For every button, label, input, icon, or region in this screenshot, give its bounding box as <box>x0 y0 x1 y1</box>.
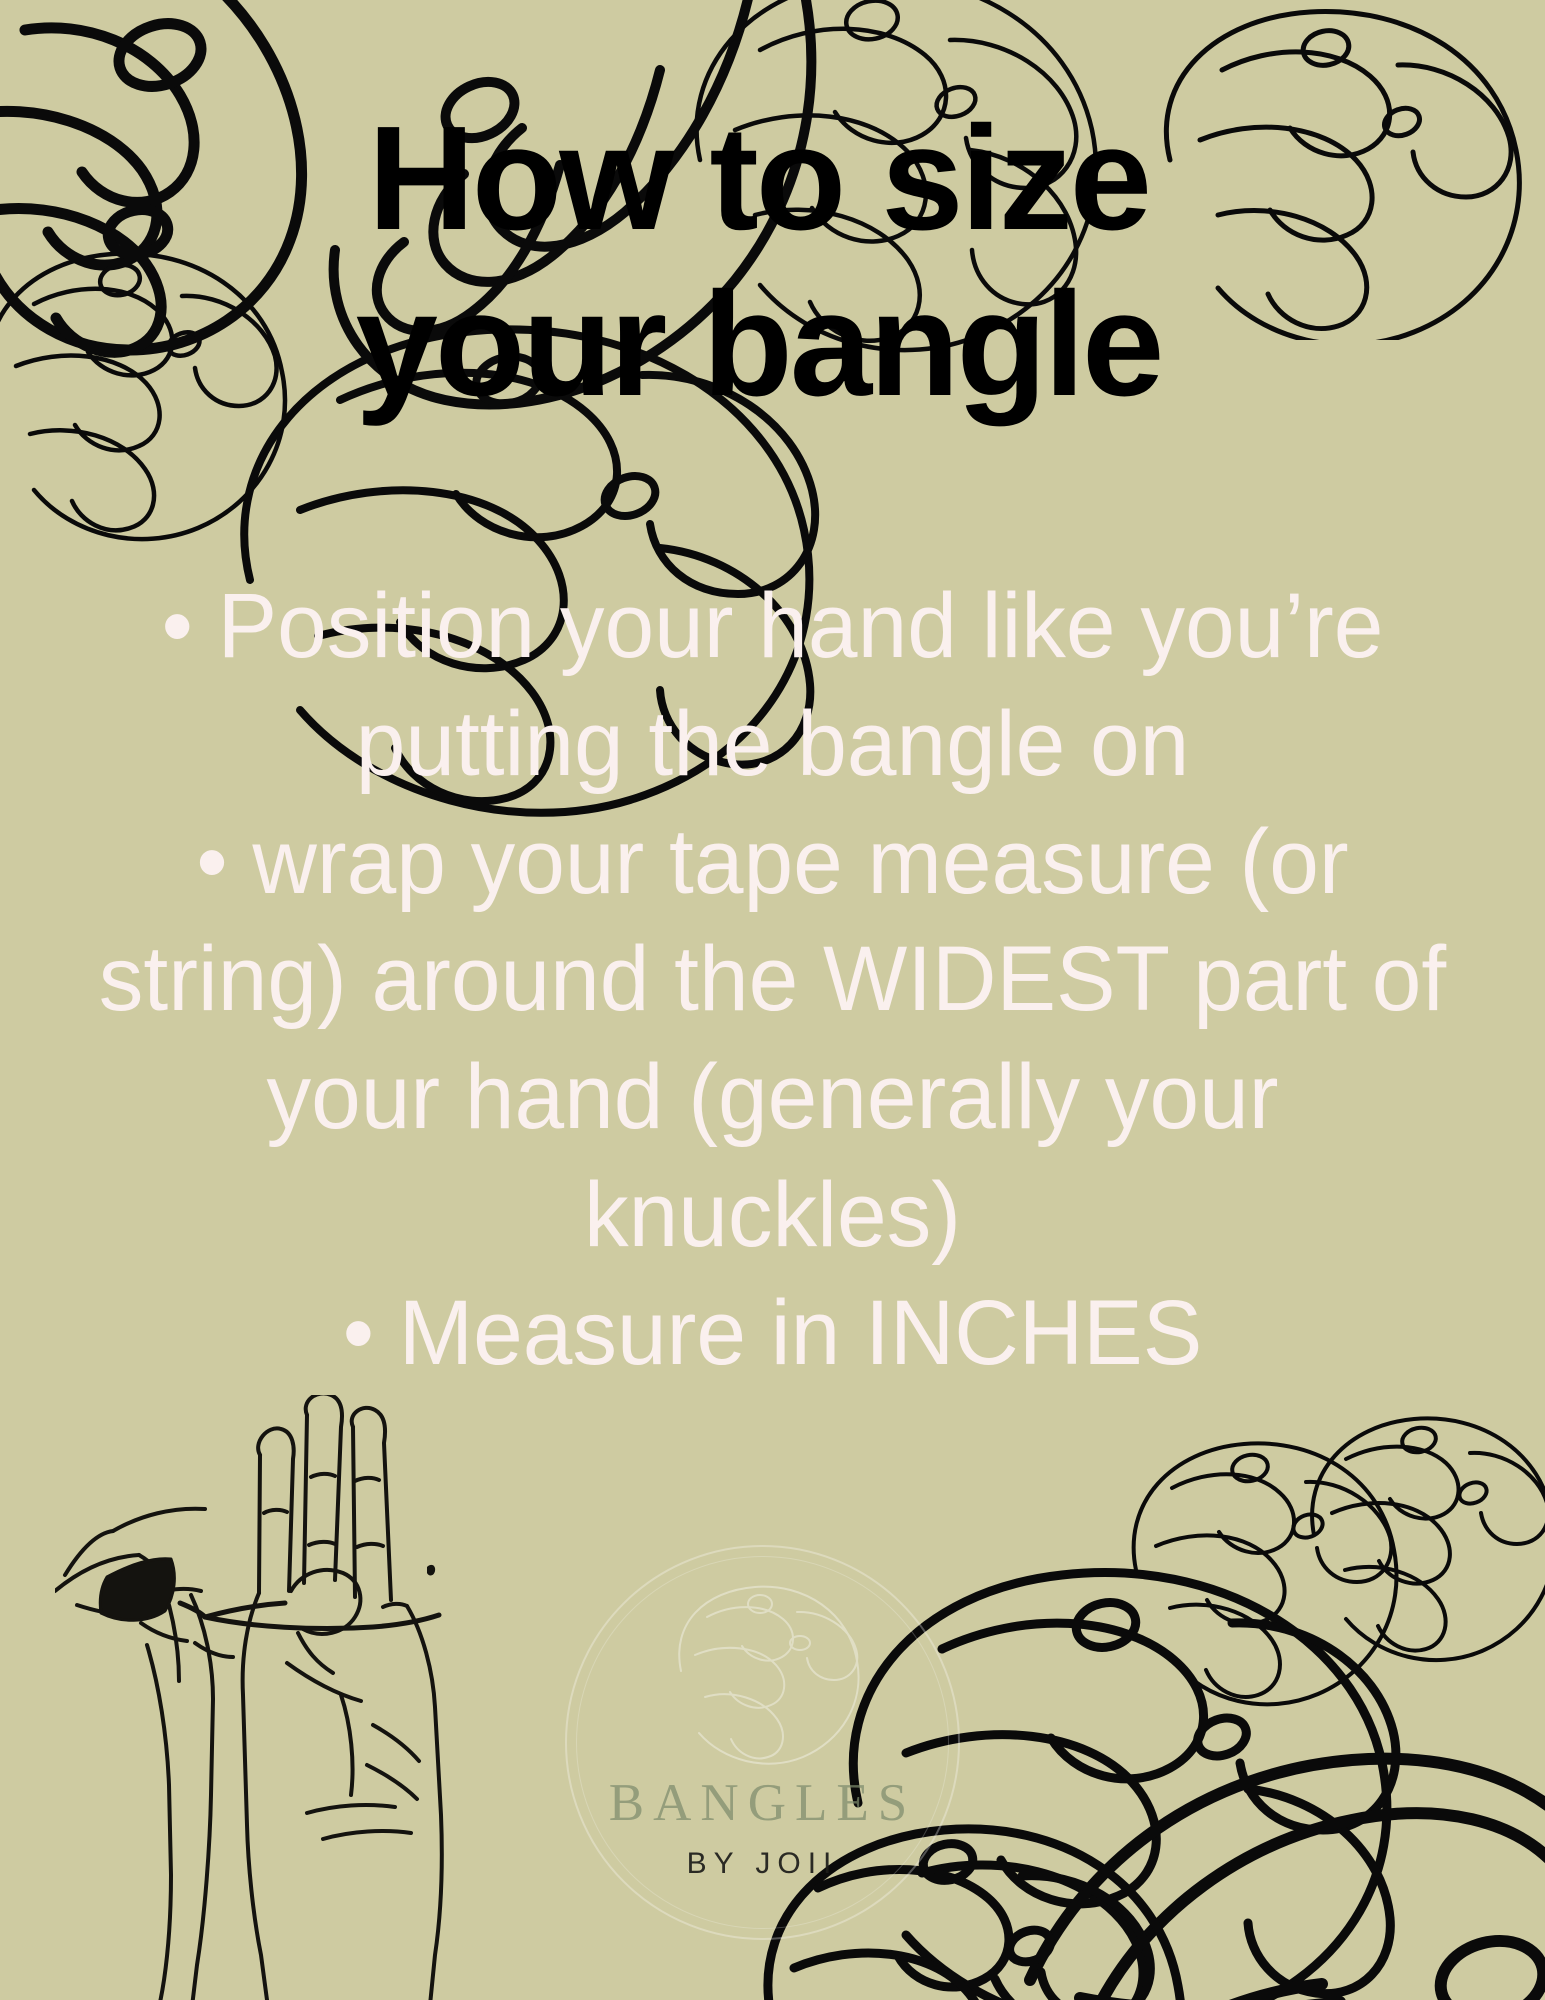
instruction-line: your hand (generally your <box>37 1039 1508 1157</box>
brand-watermark: BANGLES BY JOII <box>565 1545 960 1940</box>
title-line-1: How to size <box>0 108 1545 250</box>
instruction-line: • Measure in INCHES <box>37 1275 1508 1393</box>
instruction-line: string) around the WIDEST part of <box>37 921 1508 1039</box>
instruction-line: knuckles) <box>37 1157 1508 1275</box>
logo-tagline: BY JOII <box>565 1847 960 1881</box>
poster-canvas: How to size your bangle • Position your … <box>0 0 1545 2000</box>
hand-measuring-illustration <box>55 1395 485 2000</box>
instruction-line: • Position your hand like you’re <box>37 568 1508 686</box>
monstera-leaf-icon <box>1290 1405 1545 1675</box>
monstera-leaf-icon <box>663 1579 863 1769</box>
monstera-leaf-icon <box>1010 1680 1545 2000</box>
poster-title: How to size your bangle <box>0 108 1545 416</box>
monstera-leaf-icon <box>1110 1430 1420 1720</box>
instruction-line: putting the bangle on <box>37 686 1508 804</box>
title-line-2: your bangle <box>0 274 1545 416</box>
hand-with-string-icon <box>55 1395 485 2000</box>
logo-brand-name: BANGLES <box>565 1773 960 1833</box>
instructions-list: • Position your hand like you’re putting… <box>14 568 1531 1392</box>
instruction-line: • wrap your tape measure (or <box>37 804 1508 922</box>
